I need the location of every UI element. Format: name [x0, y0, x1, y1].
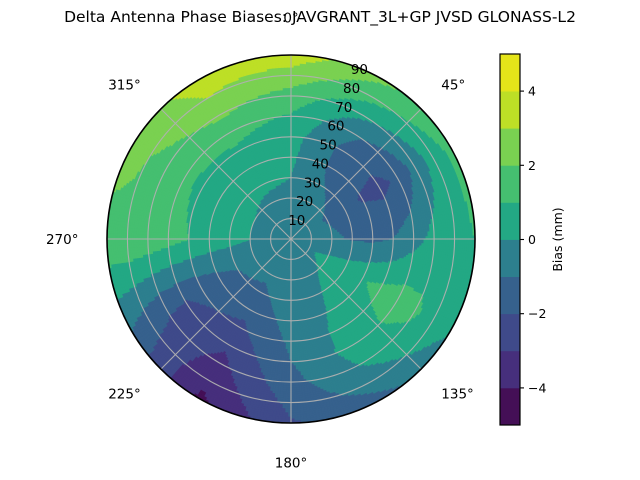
figure-canvas: Delta Antenna Phase Biases: JAVGRANT_3L+… [0, 0, 640, 480]
polar-contour-plot: 0°45°90135°180°225°270°315° 102030405060… [0, 0, 640, 480]
page-title: Delta Antenna Phase Biases: JAVGRANT_3L+… [0, 8, 640, 26]
